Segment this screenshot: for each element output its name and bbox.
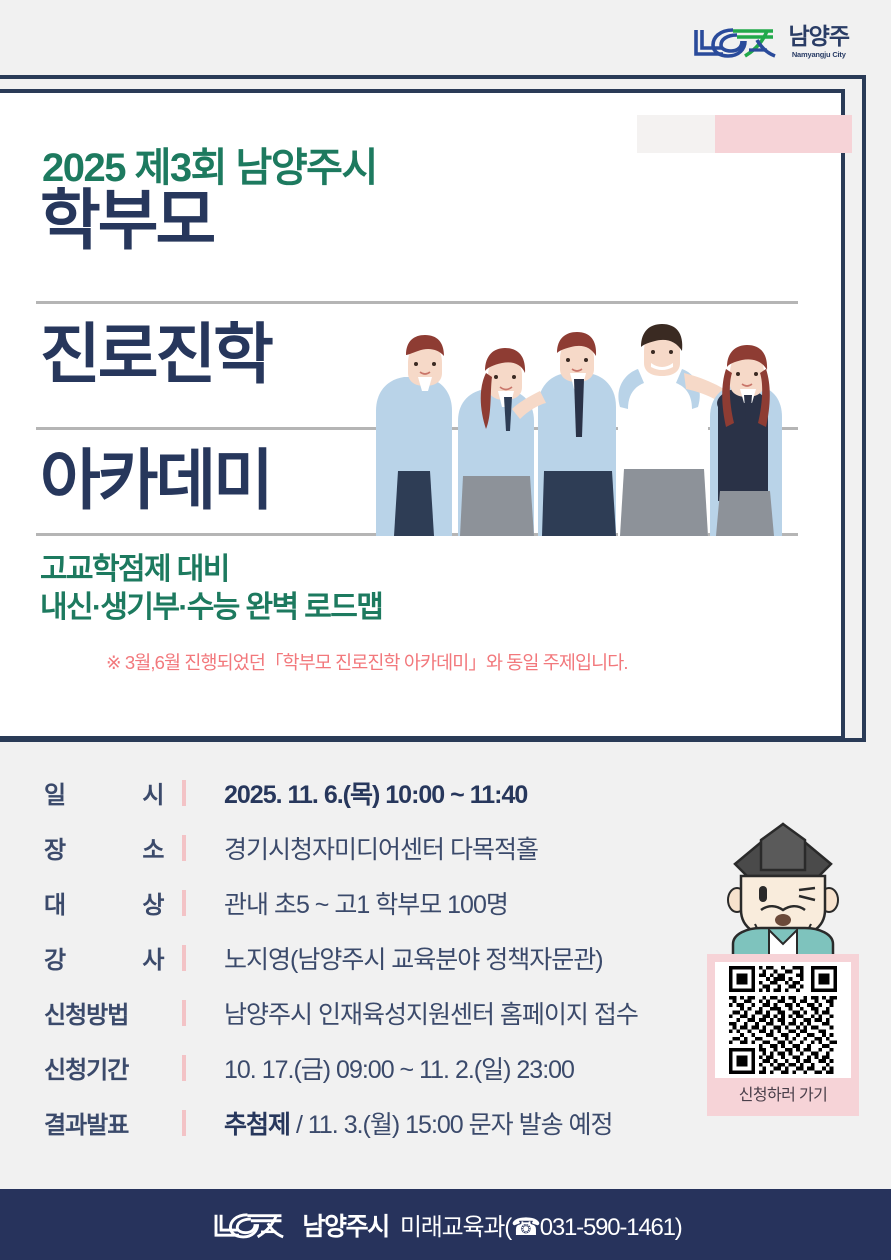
students-illustration [368,311,798,536]
info-value-venue: 경기시청자미디어센터 다목적홀 [224,830,538,866]
info-divider [182,945,186,971]
info-divider [182,1110,186,1136]
info-row-apply-period: 신청기간 10. 17.(금) 09:00 ~ 11. 2.(일) 23:00 [44,1040,724,1095]
info-value-result-rest: / 11. 3.(월) 15:00 문자 발송 예정 [290,1111,613,1139]
info-value-datetime: 2025. 11. 6.(목) 10:00 ~ 11:40 [224,775,527,811]
info-row-apply-method: 신청방법 남양주시 인재육성지원센터 홈페이지 접수 [44,985,724,1040]
info-row-lecturer: 강사 노지영(남양주시 교육분야 정책자문관) [44,930,724,985]
info-label-venue: 장소 [44,830,164,865]
footer-department: 미래교육과(☎031-590-1461) [400,1207,682,1242]
event-info-list: 일시 2025. 11. 6.(목) 10:00 ~ 11:40 장소 경기시청… [44,765,724,1150]
hero-title-line3: 아카데미 [40,447,271,513]
hero-title-line1: 학부모 [40,187,213,253]
pink-accent-tab [715,115,852,153]
info-row-result: 결과발표 추첨제 / 11. 3.(월) 15:00 문자 발송 예정 [44,1095,724,1150]
hero-rule-1 [36,301,798,304]
info-label-result: 결과발표 [44,1105,164,1140]
info-label-datetime: 일시 [44,775,164,810]
info-value-lecturer: 노지영(남양주시 교육분야 정책자문관) [224,940,603,976]
poster: 남양주 Namyangju City 2025 제3회 남양주시 학부모 진로진… [0,0,891,1260]
info-value-audience: 관내 초5 ~ 고1 학부모 100명 [224,885,508,921]
info-value-apply-method: 남양주시 인재육성지원센터 홈페이지 접수 [224,995,638,1031]
info-row-datetime: 일시 2025. 11. 6.(목) 10:00 ~ 11:40 [44,765,724,820]
info-value-apply-period: 10. 17.(금) 09:00 ~ 11. 2.(일) 23:00 [224,1050,574,1086]
hero-subtitle-line2: 내신·생기부·수능 완벽 로드맵 [40,589,382,627]
info-label-apply-period: 신청기간 [44,1050,164,1085]
qr-panel[interactable]: 신청하러 가기 [707,954,859,1116]
qr-code-icon[interactable] [729,966,837,1074]
hero-subtitle-line1: 고교학점제 대비 [40,551,382,589]
info-divider [182,780,186,806]
info-divider [182,835,186,861]
namyangju-city-logo-icon [693,22,779,62]
info-row-venue: 장소 경기시청자미디어센터 다목적홀 [44,820,724,875]
hero-content: 2025 제3회 남양주시 학부모 진로진학 아카데미 [0,89,845,740]
qr-apply-block[interactable]: 신청하러 가기 [707,818,859,1118]
namyangju-city-logo-white-icon [209,1208,291,1242]
info-label-audience: 대상 [44,885,164,920]
qr-apply-label[interactable]: 신청하러 가기 [715,1078,851,1108]
info-divider [182,1055,186,1081]
qr-code-frame[interactable] [715,962,851,1078]
info-value-result: 추첨제 / 11. 3.(월) 15:00 문자 발송 예정 [224,1105,613,1141]
hero-title-line2: 진로진학 [40,321,271,387]
info-label-lecturer: 강사 [44,940,164,975]
header-logo: 남양주 Namyangju City [693,22,849,62]
info-divider [182,890,186,916]
info-label-apply-method: 신청방법 [44,995,164,1030]
hero-note: ※ 3월,6월 진행되었던「학부모 진로진학 아카데미」와 동일 주제입니다. [106,649,628,675]
info-value-result-emphasis: 추첨제 [224,1111,290,1139]
hero-subtitle: 고교학점제 대비 내신·생기부·수능 완벽 로드맵 [40,551,382,628]
korean-scholar-mascot-icon [715,818,851,958]
info-divider [182,1000,186,1026]
logo-city-name-en: Namyangju City [792,51,846,59]
logo-city-name-ko: 남양주 [789,25,849,48]
footer-bar: 남양주시 미래교육과(☎031-590-1461) [0,1189,891,1260]
footer-city-name: 남양주시 [302,1207,388,1243]
info-row-audience: 대상 관내 초5 ~ 고1 학부모 100명 [44,875,724,930]
